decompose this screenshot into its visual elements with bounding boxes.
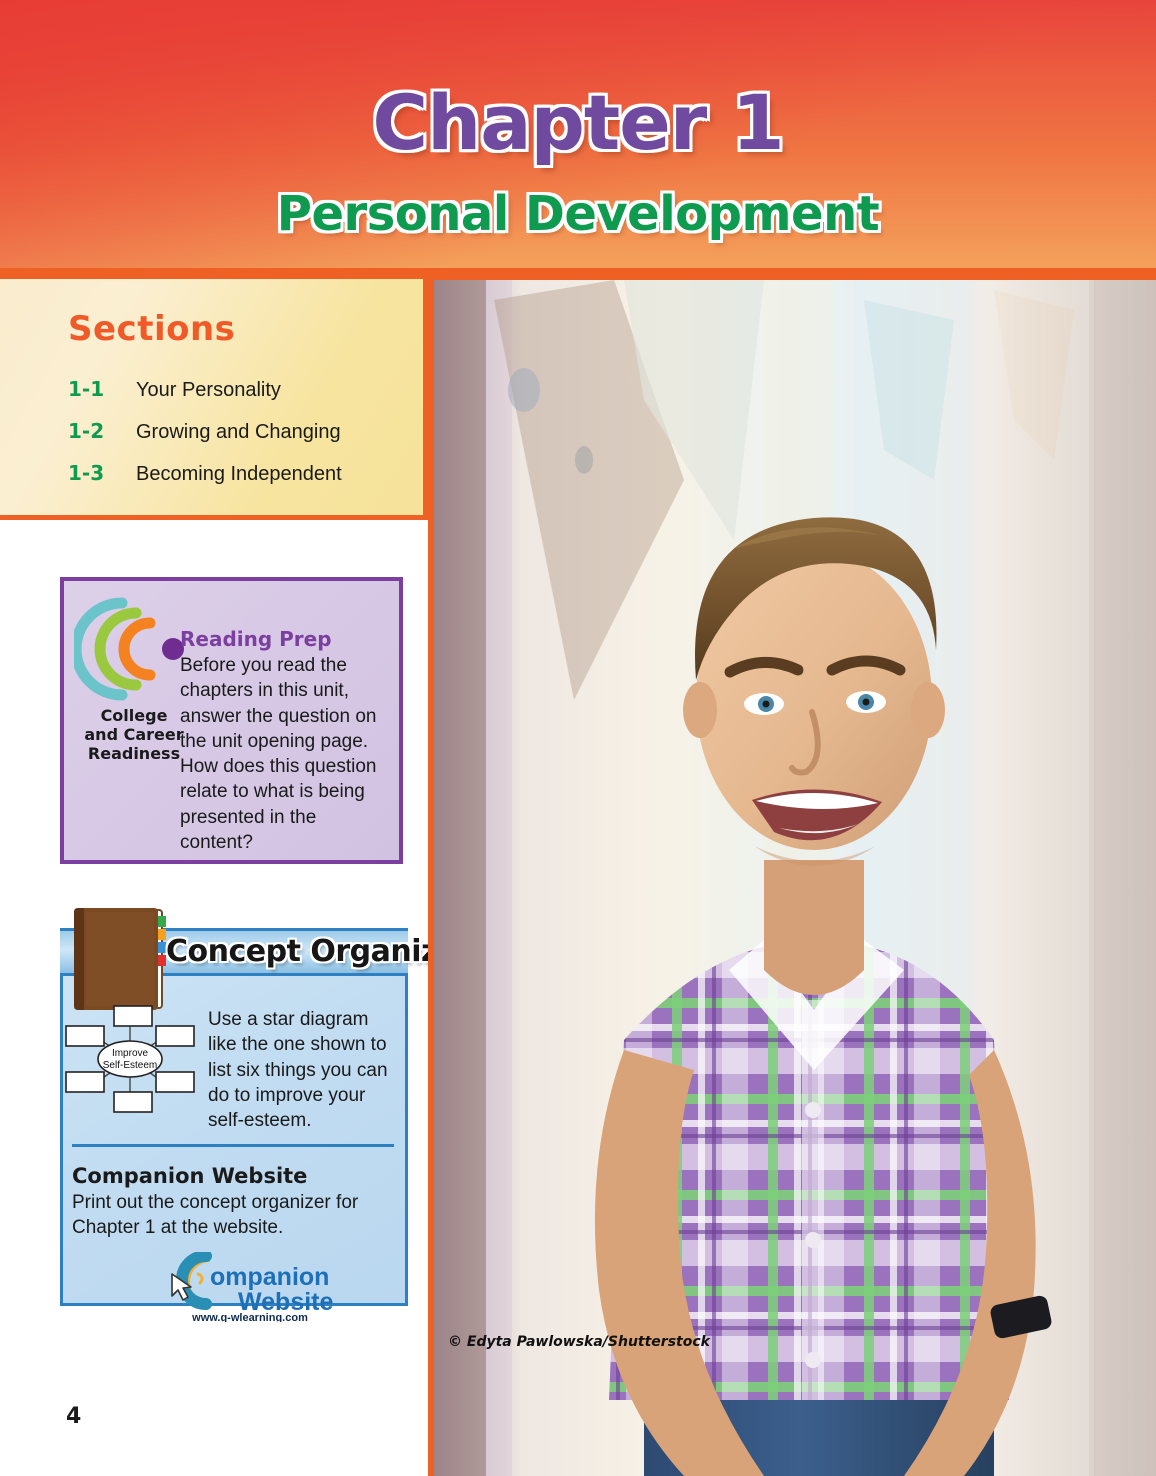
section-label: Your Personality — [136, 379, 281, 401]
concept-organizer-title: Concept Organizer — [166, 934, 472, 969]
ccr-caption-line-2: and Career — [70, 726, 198, 745]
section-label: Becoming Independent — [136, 463, 342, 485]
sections-heading: Sections — [68, 309, 235, 349]
college-career-readiness-logo-icon — [74, 595, 194, 703]
star-diagram-icon: Improve Self-Esteem — [64, 1000, 196, 1118]
star-center-line-2: Self-Esteem — [103, 1060, 157, 1071]
textbook-chapter-opener-page: Chapter 1 Personal Development Sections … — [0, 0, 1156, 1476]
section-item-1-1[interactable]: 1-1Your Personality — [68, 377, 281, 402]
ccr-caption-line-3: Readiness — [70, 745, 198, 764]
chapter-opener-photo — [434, 280, 1156, 1476]
companion-logo-url[interactable]: www.g-wlearning.com — [191, 1312, 308, 1322]
section-number: 1-1 — [68, 377, 136, 401]
ccr-caption-line-1: College — [70, 707, 198, 726]
section-number: 1-2 — [68, 419, 136, 443]
page-number: 4 — [66, 1404, 81, 1429]
section-item-1-2[interactable]: 1-2Growing and Changing — [68, 419, 341, 444]
reading-prep-body: Before you read the chapters in this uni… — [180, 653, 394, 855]
concept-organizer-body: Use a star diagram like the one shown to… — [208, 1007, 394, 1133]
ccr-caption: College and Career Readiness — [70, 707, 198, 764]
reading-prep-title: Reading Prep — [180, 627, 332, 651]
companion-website-heading: Companion Website — [72, 1164, 307, 1188]
section-number: 1-3 — [68, 461, 136, 485]
star-center-line-1: Improve — [112, 1048, 149, 1059]
companion-website-body: Print out the concept organizer for Chap… — [72, 1191, 392, 1240]
reading-prep-box: College and Career Readiness Reading Pre… — [60, 577, 403, 864]
concept-organizer-divider — [72, 1144, 394, 1147]
chapter-opener-photo-frame — [428, 274, 1156, 1476]
chapter-title: Chapter 1 — [0, 78, 1156, 167]
chapter-subtitle: Personal Development — [0, 186, 1156, 242]
companion-website-logo-icon[interactable]: ompanion Website www.g-wlearning.com — [160, 1252, 340, 1322]
sections-panel: Sections 1-1Your Personality 1-2Growing … — [0, 274, 428, 520]
section-item-1-3[interactable]: 1-3Becoming Independent — [68, 461, 342, 486]
binder-folder-icon — [68, 906, 178, 1014]
section-label: Growing and Changing — [136, 421, 341, 443]
companion-logo-word-1: ompanion — [210, 1263, 329, 1291]
photo-credit: © Edyta Pawlowska/Shutterstock — [448, 1334, 710, 1350]
